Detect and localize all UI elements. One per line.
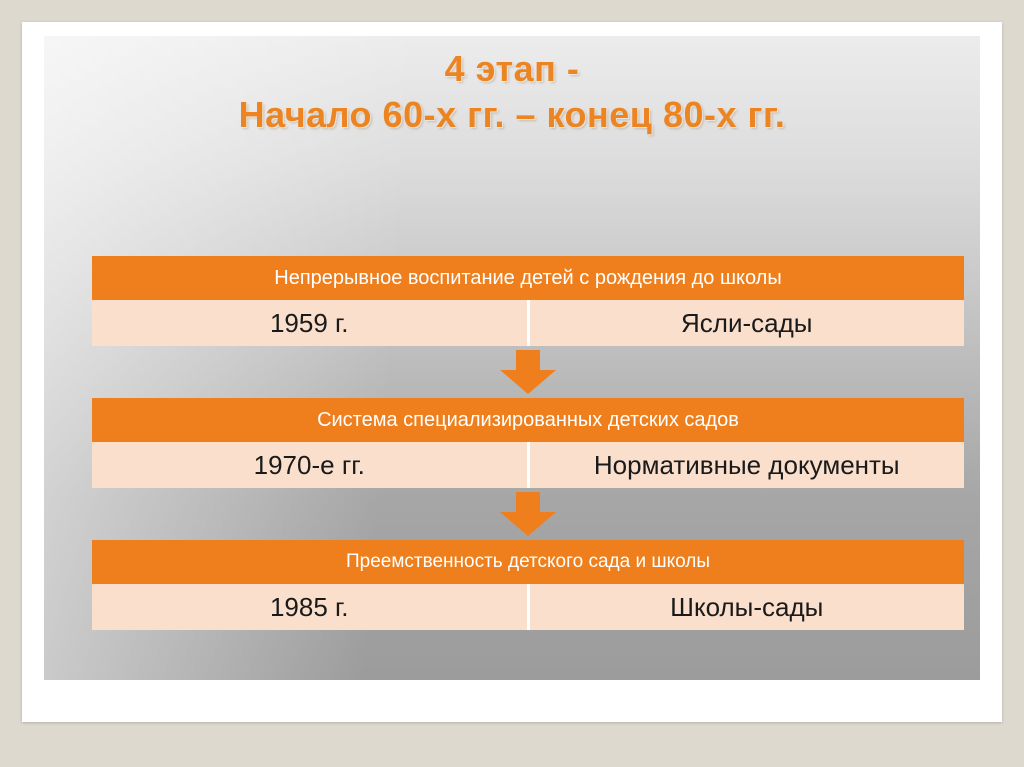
flow-block-1-value: Ясли-сады: [530, 300, 965, 346]
flow-diagram: Непрерывное воспитание детей с рождения …: [92, 256, 964, 630]
page-title-line-2: Начало 60-х гг. – конец 80-х гг.: [44, 92, 980, 138]
page-title-line-1: 4 этап -: [44, 46, 980, 92]
flow-block-2: Система специализированных детских садов…: [92, 398, 964, 488]
flow-block-2-year: 1970-е гг.: [92, 442, 530, 488]
flow-block-2-value: Нормативные документы: [530, 442, 965, 488]
page-title: 4 этап - Начало 60-х гг. – конец 80-х гг…: [44, 46, 980, 138]
flow-connector-2: [92, 488, 964, 540]
flow-block-1: Непрерывное воспитание детей с рождения …: [92, 256, 964, 346]
flow-block-3-row: 1985 г. Школы-сады: [92, 584, 964, 630]
flow-block-3-header: Преемственность детского сада и школы: [92, 540, 964, 584]
flow-block-3-year: 1985 г.: [92, 584, 530, 630]
flow-block-1-row: 1959 г. Ясли-сады: [92, 300, 964, 346]
flow-block-2-header: Система специализированных детских садов: [92, 398, 964, 442]
down-arrow-icon: [494, 350, 562, 396]
down-arrow-icon: [494, 492, 562, 538]
flow-block-3-value: Школы-сады: [530, 584, 965, 630]
flow-block-2-row: 1970-е гг. Нормативные документы: [92, 442, 964, 488]
slide-canvas: 4 этап - Начало 60-х гг. – конец 80-х гг…: [0, 0, 1024, 767]
flow-block-1-header: Непрерывное воспитание детей с рождения …: [92, 256, 964, 300]
flow-connector-1: [92, 346, 964, 398]
flow-block-1-year: 1959 г.: [92, 300, 530, 346]
flow-block-3: Преемственность детского сада и школы 19…: [92, 540, 964, 630]
